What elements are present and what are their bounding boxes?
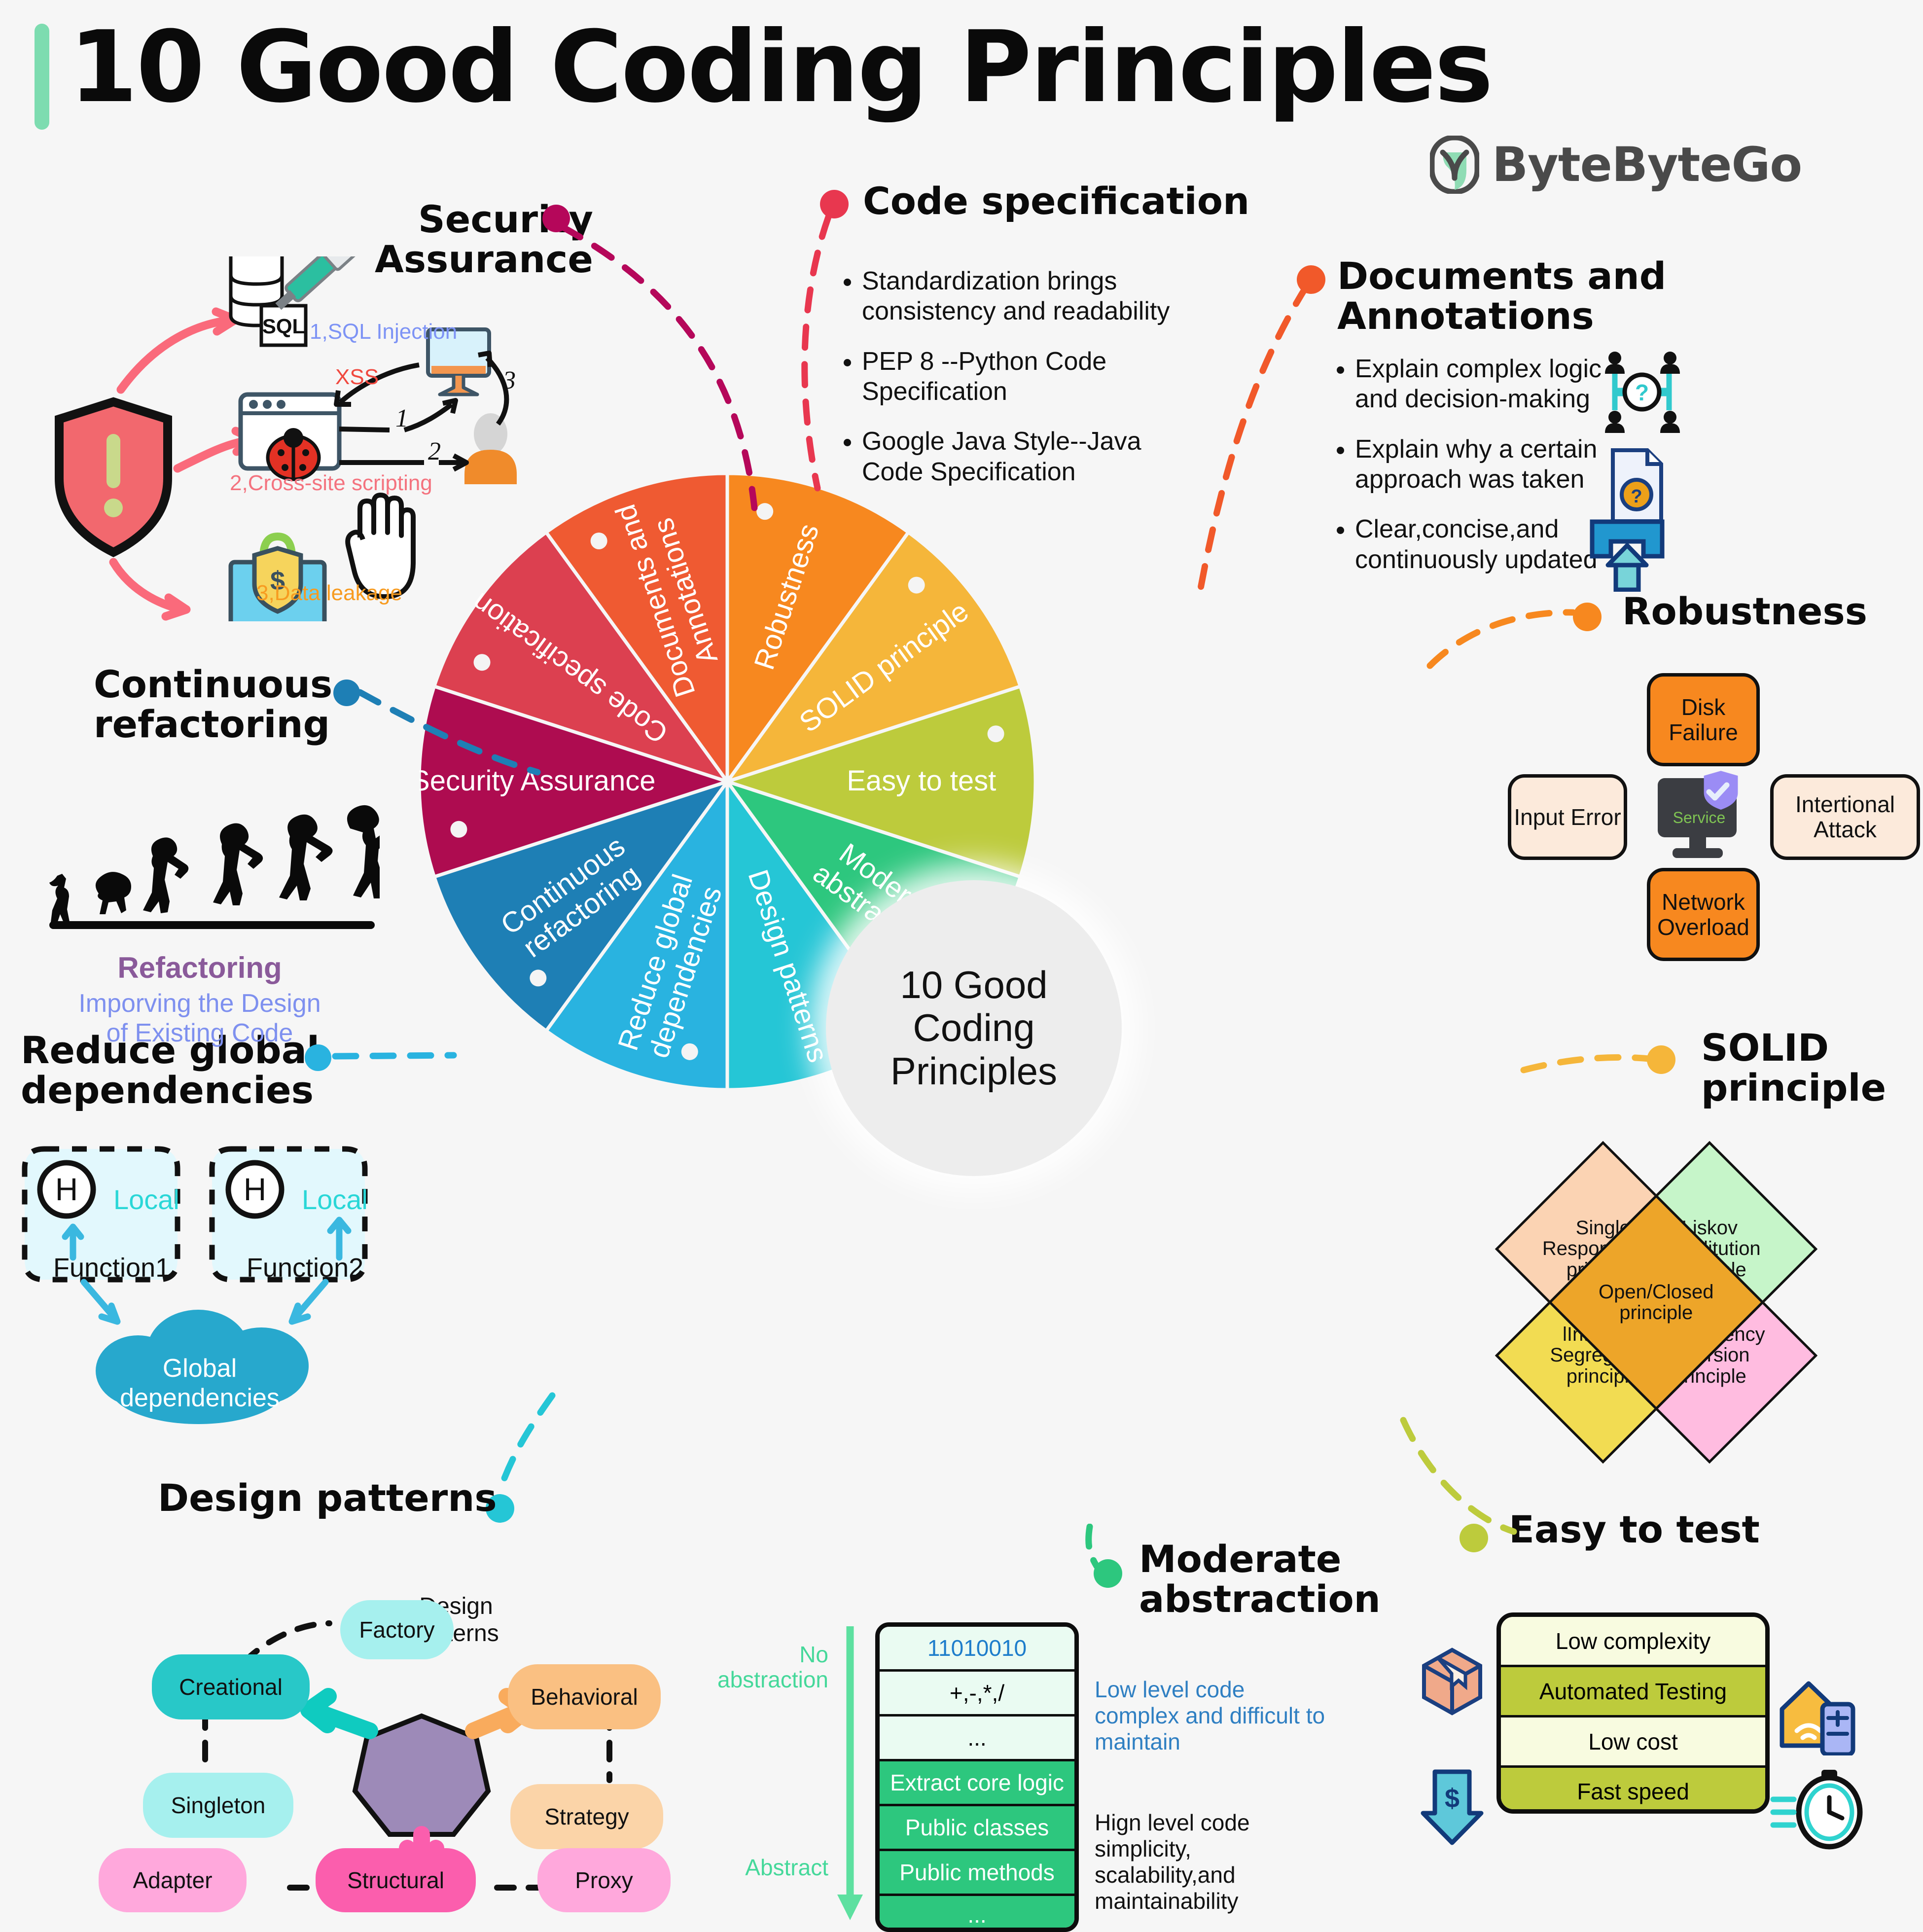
reduce-global-connector-dot [305,1044,331,1071]
design-node-label: Behavioral [531,1683,638,1710]
easy-to-test-row-low-complexity: Low complexity [1501,1617,1765,1667]
moderate-abstraction-title: Moderate abstraction [1139,1539,1381,1619]
title-accent-bar [35,24,49,130]
code-spec-bullet-3: Google Java Style--Java Code Specificati… [862,427,1177,487]
moderate-abstraction-title-line1: Moderate [1139,1539,1381,1579]
easy-to-test-row-label: Low cost [1588,1728,1678,1755]
abstraction-row-label: 11010010 [927,1635,1027,1661]
hub-line-3: Principles [890,1049,1057,1093]
hub-line-2: Coding [913,1006,1034,1049]
brand-logo: ByteByteGo [1430,136,1802,194]
svg-text:H: H [55,1172,78,1207]
robustness-box-input-error: Input Error [1508,774,1627,860]
wheel-segment-marker [681,1043,698,1060]
reduce-global-function-1: Function1 [53,1252,170,1283]
wheel-segment-marker [474,654,491,671]
abstraction-row-label: Public methods [899,1859,1055,1886]
abstraction-axis-arrow [833,1622,868,1928]
svg-text:$: $ [1445,1784,1460,1813]
refactoring-caption: Refactoring [20,951,380,985]
stopwatch-icon [1770,1763,1874,1852]
solid-diamond-label: Open/Closed principle [1582,1282,1730,1324]
svg-text:?: ? [1635,380,1649,405]
robustness-box-network-overload: Network Overload [1647,868,1760,961]
wheel-segment-marker [450,821,467,838]
design-patterns-connector-line [473,1391,597,1499]
moderate-abstraction-connector-line [1075,1524,1134,1578]
abstraction-row-ellipsis-1: ... [880,1717,1074,1761]
abstraction-note-high: Hign level code simplicity, scalability,… [1095,1810,1312,1914]
abstraction-row-operators: +,-,*,/ [880,1672,1074,1717]
moderate-abstraction-title-line2: abstraction [1139,1579,1381,1619]
solid-title: SOLID principle [1701,1028,1886,1108]
design-node-label: Proxy [575,1867,633,1894]
abstraction-row-public-methods: Public methods [880,1851,1074,1896]
design-node-label: Structural [347,1867,444,1894]
continuous-refactoring-title-line2: refactoring [94,705,320,745]
hub-line-1: 10 Good [900,963,1047,1006]
documents-connector-line [1183,276,1341,621]
wheel-segment-label: Easy to test [847,765,996,797]
solid-title-line2: principle [1701,1068,1886,1108]
design-node-label: Adapter [133,1867,212,1894]
design-node-label: Creational [179,1674,283,1700]
wheel-segment-marker [530,969,546,986]
team-question-icon: ? [1595,345,1689,439]
design-node-creational: Creational [152,1654,310,1719]
abstraction-row-label: ... [967,1901,986,1928]
continuous-refactoring-title-line1: Continuous [94,665,320,705]
robustness-connector-line [1425,577,1588,676]
easy-to-test-row-low-cost: Low cost [1501,1717,1765,1768]
easy-to-test-row-label: Low complexity [1556,1628,1710,1654]
design-patterns-title: Design patterns [158,1478,497,1518]
svg-text:H: H [244,1172,266,1207]
abstraction-note-low: Low level code complex and difficult to … [1095,1677,1326,1755]
easy-to-test-table: Low complexity Automated Testing Low cos… [1496,1612,1770,1814]
design-node-adapter: Adapter [99,1848,247,1912]
refactoring-subcaption: Imporving the Design of Existing Code [20,989,380,1048]
reduce-global-local-label-2: Local [302,1183,368,1216]
reduce-global-local-label-1: Local [113,1183,179,1216]
documents-bullet-2: Explain why a certain approach was taken [1355,434,1611,495]
brand-name: ByteByteGo [1492,137,1802,192]
moderate-abstraction-table: 11010010 +,-,*,/ ... Extract core logic … [875,1622,1079,1932]
abstraction-row-label: Extract core logic [890,1769,1064,1796]
robustness-title: Robustness [1622,592,1867,632]
documents-bullet-1: Explain complex logic and decision-makin… [1355,354,1611,415]
easy-to-test-row-fast-speed: Fast speed [1501,1768,1765,1814]
security-illustration: SQL 1 2 3 $ [15,256,572,621]
documents-bullet-3: Clear,concise,and continuously updated [1355,514,1611,575]
refactoring-subcaption-line1: Imporving the Design [78,989,320,1018]
service-label: Service [1660,809,1739,827]
code-spec-bullet-1: Standardization brings consistency and r… [862,266,1177,327]
security-item-1: 1,SQL Injection [310,320,457,344]
code-spec-title: Code specification [863,181,1249,221]
easy-to-test-row-automated-testing: Automated Testing [1501,1667,1765,1717]
security-connector-line [547,212,804,518]
refactoring-subcaption-line2: of Existing Code [107,1019,293,1047]
reduce-global-cloud-label: Global dependencies [118,1354,281,1413]
document-question-icon: ? [1600,446,1669,525]
cost-down-arrow-icon: $ [1420,1768,1484,1847]
abstraction-row-label: +,-,*,/ [950,1680,1004,1706]
reduce-global-title-line2: dependencies [21,1071,320,1110]
robustness-box-label: Intertional Attack [1774,792,1917,842]
documents-bullets: Explain complex logic and decision-makin… [1331,354,1611,595]
wheel-segment-marker [988,725,1004,742]
robustness-box-label: Network Overload [1650,890,1756,939]
smart-home-icon [1775,1677,1859,1755]
design-node-factory: Factory [340,1600,454,1659]
security-item-2: 2,Cross-site scripting [230,471,432,496]
wheel-hub: 10 Good Coding Principles [826,880,1122,1176]
abstraction-row-ellipsis-2: ... [880,1896,1074,1932]
wheel-segment-marker [591,533,607,549]
svg-text:1: 1 [395,404,408,432]
design-node-label: Factory [359,1616,434,1643]
wheel-segment-marker [908,577,925,594]
svg-text:SQL: SQL [262,315,305,338]
design-node-proxy: Proxy [537,1848,671,1912]
svg-text:3: 3 [502,366,516,394]
abstraction-row-label: ... [967,1724,986,1751]
upload-icon [1585,518,1669,592]
robustness-box-intertional-attack: Intertional Attack [1770,774,1920,860]
documents-title-line2: Annotations [1337,296,1666,336]
abstraction-row-binary: 11010010 [880,1627,1074,1672]
design-node-label: Singleton [171,1792,266,1819]
documents-title: Documents and Annotations [1337,256,1666,336]
design-node-singleton: Singleton [143,1773,293,1838]
design-node-structural: Structural [316,1848,476,1912]
continuous-refactoring-title: Continuous refactoring [94,665,320,744]
design-node-label: Strategy [544,1803,629,1830]
robustness-box-label: Disk Failure [1650,695,1756,745]
package-box-icon [1420,1647,1484,1716]
abstraction-row-label: Public classes [905,1814,1049,1841]
security-item-3: 3,Data leakage [256,581,402,606]
robustness-box-label: Input Error [1514,805,1621,830]
robustness-box-disk-failure: Disk Failure [1647,673,1760,766]
page-title: 10 Good Coding Principles [69,10,1492,125]
easy-to-test-row-label: Automated Testing [1539,1678,1727,1705]
continuous-refactoring-connector-line [355,685,562,789]
abstraction-row-extract-core-logic: Extract core logic [880,1761,1074,1806]
abstraction-axis-top-text: No abstraction [717,1642,828,1692]
svg-text:?: ? [1631,486,1642,507]
easy-to-test-row-label: Fast speed [1577,1778,1689,1805]
cloud-line-1: Global [163,1354,237,1383]
design-node-strategy: Strategy [510,1784,663,1849]
code-spec-bullet-2: PEP 8 --Python Code Specification [862,347,1177,407]
abstraction-row-public-classes: Public classes [880,1806,1074,1851]
solid-connector-line [1519,1036,1667,1095]
svg-text:2: 2 [428,437,441,465]
xss-label: XSS [335,365,379,390]
code-spec-connector-line [779,212,907,498]
cloud-line-2: dependencies [120,1384,280,1412]
abstraction-axis-top-label: No abstraction [717,1642,828,1692]
design-node-behavioral: Behavioral [508,1664,661,1729]
reduce-global-function-2: Function2 [247,1252,363,1283]
bytebytego-mark-icon [1430,136,1479,194]
abstraction-axis-bottom-label: Abstract [717,1854,828,1881]
evolution-illustration [20,759,380,962]
easy-to-test-connector-line [1395,1415,1563,1543]
solid-title-line1: SOLID [1701,1028,1886,1068]
documents-title-line1: Documents and [1337,256,1666,296]
